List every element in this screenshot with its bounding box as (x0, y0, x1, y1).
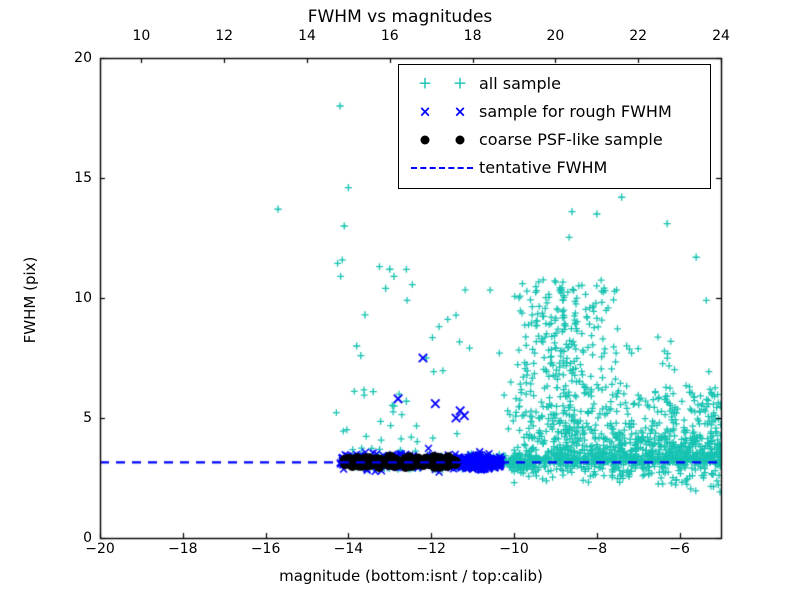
legend-item-coarse-psf: coarse PSF-like sample (399, 126, 710, 154)
x-tick-label-bottom: −14 (334, 541, 364, 557)
legend-marker-tentative-fwhm (407, 154, 479, 182)
y-tick-label: 0 (65, 530, 92, 546)
dot-marker-icon (456, 136, 465, 145)
x-tick-label-bottom: −16 (251, 541, 281, 557)
x-axis-label: magnitude (bottom:isnt / top:calib) (279, 567, 543, 585)
x-tick-label-top: 16 (381, 28, 399, 44)
legend-item-tentative-fwhm: tentative FWHM (399, 154, 710, 182)
x-marker-icon: × (454, 105, 467, 120)
dashed-line-icon (411, 167, 473, 169)
x-tick-label-bottom: −10 (499, 541, 529, 557)
x-tick-label-bottom: −8 (586, 541, 607, 557)
plus-icon: + (453, 76, 467, 93)
chart-legend: + + all sample × × sample for rough FWHM… (398, 64, 711, 189)
x-tick-label-top: 18 (464, 28, 482, 44)
chart-title: FWHM vs magnitudes (308, 7, 493, 27)
x-tick-label-top: 24 (712, 28, 730, 44)
legend-marker-all-sample: + + (407, 70, 479, 98)
x-tick-label-top: 10 (132, 28, 150, 44)
y-tick-label: 15 (65, 170, 92, 186)
legend-label-rough-fwhm: sample for rough FWHM (479, 98, 672, 126)
x-tick-label-bottom: −12 (416, 541, 446, 557)
y-tick-label: 5 (65, 410, 92, 426)
x-tick-label-top: 14 (298, 28, 316, 44)
legend-item-all-sample: + + all sample (399, 70, 710, 98)
y-axis-label: FWHM (pix) (21, 257, 39, 344)
dot-marker-icon (421, 136, 430, 145)
plus-icon: + (418, 76, 432, 93)
x-tick-label-top: 12 (215, 28, 233, 44)
y-tick-label: 10 (65, 290, 92, 306)
x-tick-label-top: 20 (546, 28, 564, 44)
figure-canvas: FWHM vs magnitudes magnitude (bottom:isn… (0, 0, 800, 600)
legend-label-coarse-psf: coarse PSF-like sample (479, 126, 663, 154)
x-marker-icon: × (419, 105, 432, 120)
x-tick-label-top: 22 (629, 28, 647, 44)
x-tick-label-bottom: −6 (669, 541, 690, 557)
y-tick-label: 20 (65, 50, 92, 66)
legend-label-tentative-fwhm: tentative FWHM (479, 154, 607, 182)
legend-marker-rough-fwhm: × × (407, 98, 479, 126)
legend-marker-coarse-psf (407, 126, 479, 154)
x-tick-label-bottom: −18 (168, 541, 198, 557)
legend-item-rough-fwhm: × × sample for rough FWHM (399, 98, 710, 126)
legend-label-all-sample: all sample (479, 70, 561, 98)
